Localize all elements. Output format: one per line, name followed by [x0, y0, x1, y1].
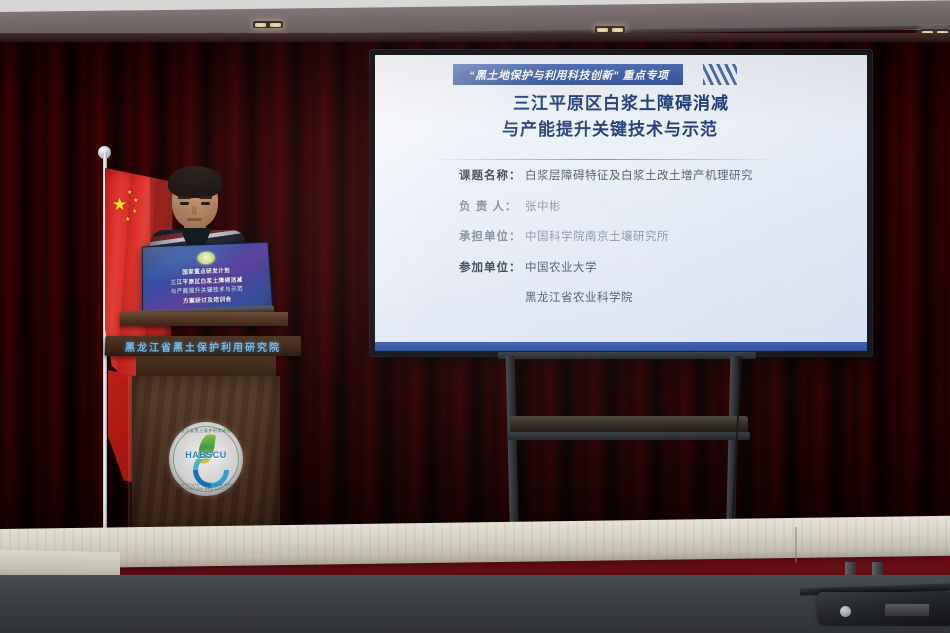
habscu-logo: 黑龙江省黑土保护利用研究院 HABSCU INSTITUTE OF BLACK …	[169, 422, 243, 496]
flag-star-small: ★	[125, 217, 130, 223]
presenter-eye	[180, 202, 189, 205]
podium-neck	[136, 356, 276, 378]
flag-star-large: ★	[112, 196, 127, 213]
foreground-floor	[0, 575, 950, 633]
display-screen[interactable]: “黑土地保护与利用科技创新” 重点专项 三江平原区白浆土障碍消减 与产能提升关键…	[370, 50, 872, 356]
banner-slash-decoration	[703, 64, 737, 85]
slide-row-value: 中国科学院南京土壤研究所	[525, 232, 669, 244]
tv-stand-rail	[508, 432, 750, 440]
title-divider	[437, 159, 767, 160]
podium-name-sign: 黑龙江省黑土保护利用研究院	[105, 336, 301, 356]
av-equipment	[818, 592, 950, 626]
slide-row: 参加单位： 中国农业大学	[459, 263, 847, 275]
slide-row: 负 责 人： 张中彬	[459, 202, 847, 214]
presenter-eyebrow	[199, 196, 212, 199]
equipment-label-plate	[885, 604, 929, 616]
emblem-acronym: HABSCU	[169, 450, 243, 460]
flag-star-small: ★	[127, 190, 132, 196]
podium-body: 黑龙江省黑土保护利用研究院 HABSCU INSTITUTE OF BLACK …	[132, 376, 280, 546]
slide-row-value: 白浆层障碍特征及白浆土改土增产机理研究	[525, 171, 753, 183]
presentation-scene-photo: ★ ★ ★ ★ ★ “黑土地保护与利用科技创新” 重点专项 三江平原区白浆土障碍…	[0, 0, 950, 633]
presenter-eyebrow	[178, 196, 191, 199]
presenter-eye	[201, 202, 210, 205]
emblem-arc-top-text: 黑龙江省黑土保护利用研究院	[169, 428, 243, 434]
slide-row-label: 课题名称：	[459, 171, 523, 183]
podium-sign-text: 黑龙江省黑土保护利用研究院	[125, 339, 281, 354]
presenter-mouth	[187, 218, 202, 221]
slide-body: 课题名称： 白浆层障碍特征及白浆土改土增产机理研究 负 责 人： 张中彬 承担单…	[459, 171, 847, 305]
tv-stand-top-bar	[498, 352, 756, 359]
laptop-slide-text: 国家重点研发计划 三江平原区白浆土障碍消减 与产能提升关键技术与示范 方案研讨及…	[143, 266, 272, 309]
slide-title-line-1: 三江平原区白浆土障碍消减	[513, 94, 729, 113]
slide-banner: “黑土地保护与利用科技创新” 重点专项	[453, 64, 683, 85]
presenter-nose	[192, 206, 197, 215]
slide-row-label: 负 责 人：	[459, 202, 523, 214]
slide-bottom-band	[375, 342, 867, 351]
slide-surface: “黑土地保护与利用科技创新” 重点专项 三江平原区白浆土障碍消减 与产能提升关键…	[375, 55, 867, 351]
slide-row: 承担单位： 中国科学院南京土壤研究所	[459, 232, 847, 244]
ceiling-downlight-icon	[595, 26, 625, 33]
slide-row: 课题名称： 白浆层障碍特征及白浆土改土增产机理研究	[459, 171, 847, 183]
slide-row-value: 张中彬	[525, 202, 561, 214]
table-seam	[795, 527, 797, 563]
slide-title-line-2: 与产能提升关键技术与示范	[375, 117, 867, 143]
slide-row-label: 参加单位：	[459, 263, 523, 275]
slide-extra-line: 黑龙江省农业科学院	[525, 293, 847, 305]
flag-star-small: ★	[133, 198, 138, 204]
podium-top-surface	[120, 312, 288, 326]
tv-stand-shelf	[510, 416, 748, 433]
flag-star-small: ★	[132, 209, 137, 215]
emblem-arc-bottom-text: INSTITUTE OF BLACK SOIL CONSERVATION AND…	[169, 483, 243, 491]
equipment-knob[interactable]	[840, 606, 851, 617]
ceiling-downlight-icon	[253, 21, 283, 28]
slide-title: 三江平原区白浆土障碍消减 与产能提升关键技术与示范	[375, 91, 867, 144]
curtain-rail	[0, 33, 950, 42]
slide-row-label: 承担单位：	[459, 232, 523, 244]
presenter-hair	[168, 166, 222, 198]
slide-row-value: 中国农业大学	[525, 263, 597, 275]
